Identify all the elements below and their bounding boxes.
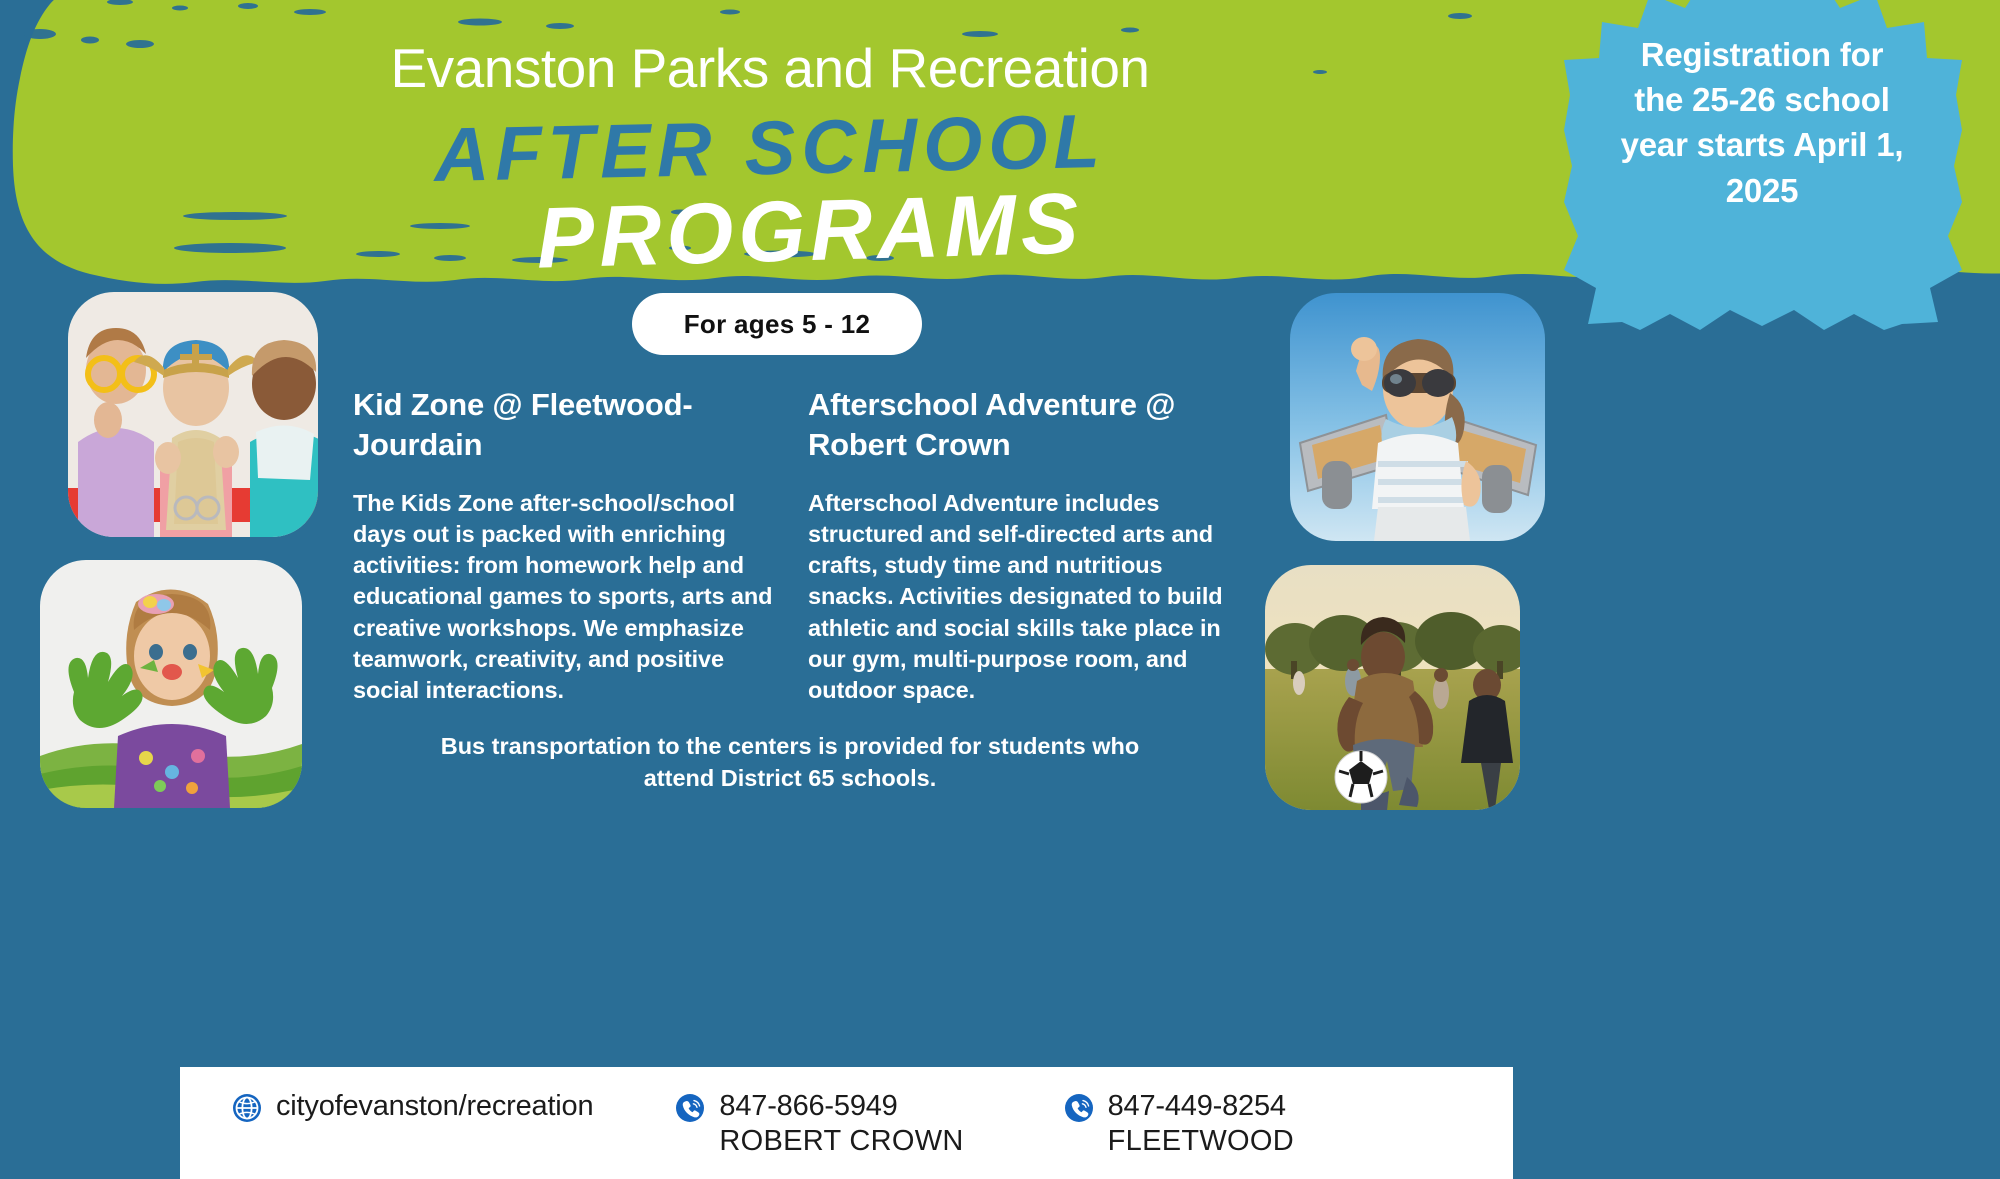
bus-transportation-note: Bus transportation to the centers is pro… [430,730,1150,794]
program-column-kid-zone: Kid Zone @ Fleetwood-Jourdain The Kids Z… [353,385,773,706]
photo-soccer-boy-art [1265,565,1520,810]
footer-phone-robert-crown: 847-866-5949ROBERT CROWN [719,1089,963,1160]
footer-location-fleetwood: FLEETWOOD [1108,1124,1294,1159]
globe-icon [232,1093,262,1123]
photo-pilot-boy [1290,293,1545,541]
footer-contact-bar: cityofevanston/recreation 847-866-5949RO… [180,1067,1513,1179]
organization-title: Evanston Parks and Recreation [300,36,1240,100]
phone-icon [1064,1093,1094,1123]
photo-kids-costumes-art [68,292,318,537]
program-heading-afterschool-adventure: Afterschool Adventure @ Robert Crown [808,385,1238,466]
program-column-afterschool-adventure: Afterschool Adventure @ Robert Crown Aft… [808,385,1238,706]
footer-website[interactable]: cityofevanston/recreation [232,1089,593,1124]
ages-pill: For ages 5 - 12 [632,293,922,355]
program-heading-kid-zone: Kid Zone @ Fleetwood-Jourdain [353,385,773,466]
photo-kids-costumes [68,292,318,537]
photo-paint-girl [40,560,302,808]
footer-phone-fleetwood: 847-449-8254FLEETWOOD [1108,1089,1294,1160]
phone-icon [675,1093,705,1123]
registration-badge: Registration for the 25-26 school year s… [1562,0,1962,330]
program-body-kid-zone: The Kids Zone after-school/school days o… [353,488,773,707]
ages-pill-label: For ages 5 - 12 [684,309,871,340]
footer-contact-fleetwood[interactable]: 847-449-8254FLEETWOOD [1064,1089,1294,1160]
photo-paint-girl-art [40,560,302,808]
photo-soccer-boy [1265,565,1520,810]
photo-pilot-boy-art [1290,293,1545,541]
footer-website-label: cityofevanston/recreation [276,1089,593,1124]
footer-location-robert-crown: ROBERT CROWN [719,1124,963,1159]
registration-badge-text: Registration for the 25-26 school year s… [1612,32,1912,213]
footer-contact-robert-crown[interactable]: 847-866-5949ROBERT CROWN [675,1089,963,1160]
program-body-afterschool-adventure: Afterschool Adventure includes structure… [808,488,1238,707]
